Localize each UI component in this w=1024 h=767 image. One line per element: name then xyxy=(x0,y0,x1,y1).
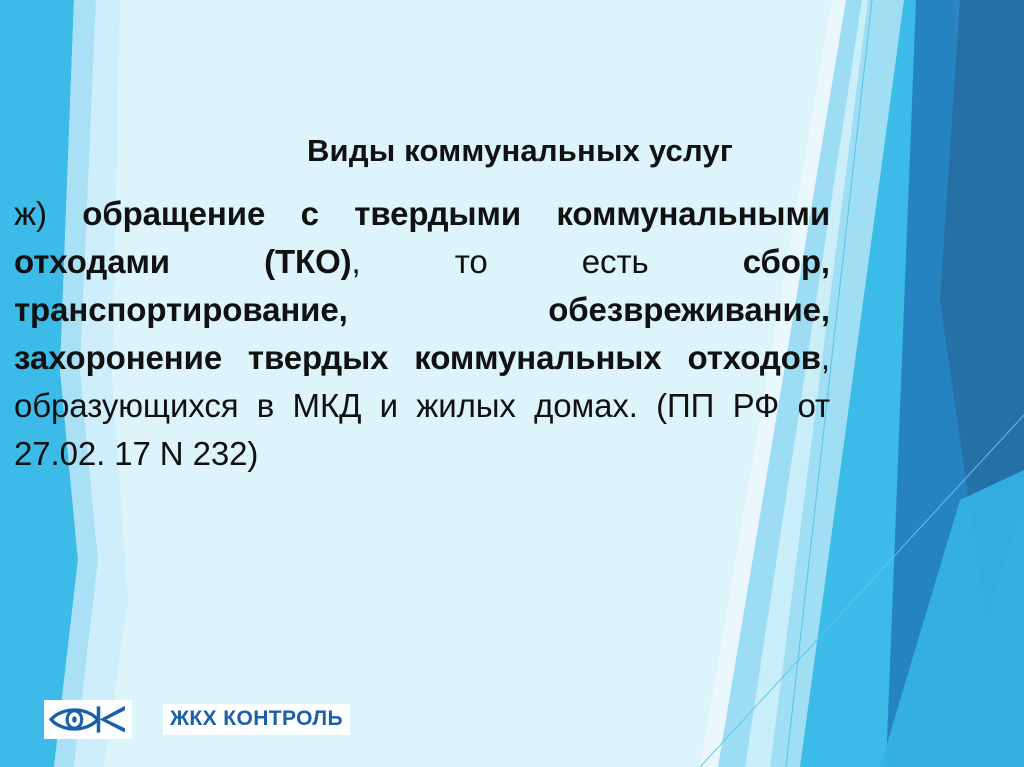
body-run-regular-1: , то есть xyxy=(352,243,743,280)
body-run-prefix: ж) xyxy=(14,195,82,232)
logo-wordmark: ЖКХ КОНТРОЛЬ xyxy=(163,704,350,734)
logo-mark-plate xyxy=(44,700,132,739)
slide-title: Виды коммунальных услуг xyxy=(0,132,1024,171)
footer-logo: ЖКХ КОНТРОЛЬ xyxy=(44,700,350,739)
eye-fish-monogram-icon xyxy=(44,700,132,739)
slide-canvas: Виды коммунальных услуг ж) обращение с т… xyxy=(0,0,1024,767)
slide-body-paragraph: ж) обращение с твердыми коммунальными от… xyxy=(14,190,830,478)
